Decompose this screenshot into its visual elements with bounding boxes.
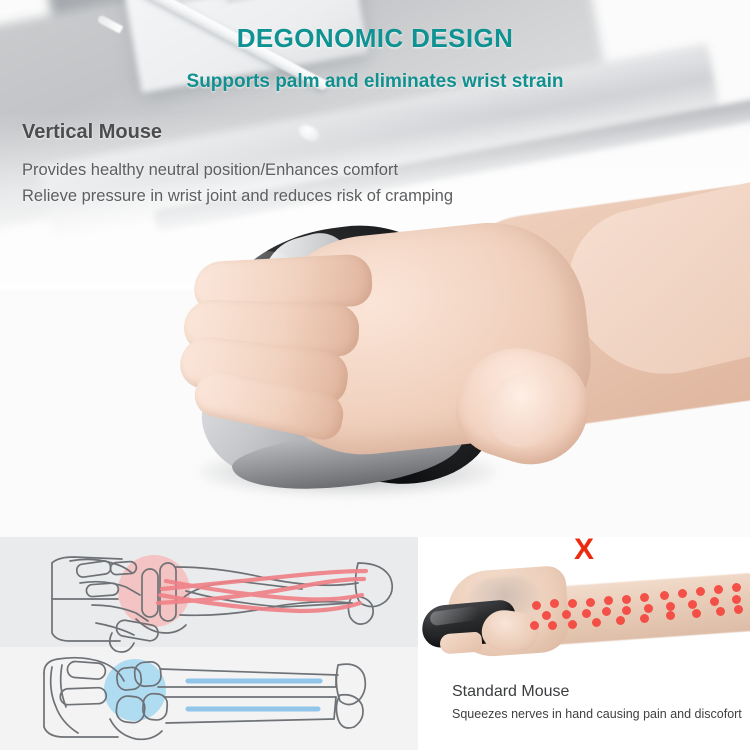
pain-dot: [548, 621, 557, 630]
pain-dot: [660, 591, 669, 600]
pain-dot: [602, 607, 611, 616]
pain-dot: [604, 596, 613, 605]
pain-dot: [714, 585, 723, 594]
pain-dot: [734, 605, 743, 614]
pain-dot: [710, 597, 719, 606]
pain-dot: [678, 589, 687, 598]
pain-dot: [688, 600, 697, 609]
pain-dot: [732, 583, 741, 592]
pain-dot: [716, 607, 725, 616]
pain-dot: [622, 595, 631, 604]
product-marketing-image: DEGONOMIC DESIGN Supports palm and elimi…: [0, 0, 750, 750]
pain-dot: [666, 602, 675, 611]
pain-dot: [732, 595, 741, 604]
standard-fingertip: [439, 632, 482, 655]
standard-mouse-photo: [420, 559, 750, 669]
wrist-anatomy-panel: [0, 537, 418, 750]
pain-dot: [550, 599, 559, 608]
page-title: DEGONOMIC DESIGN: [0, 23, 750, 54]
pain-dot: [562, 610, 571, 619]
feature-line-1: Provides healthy neutral position/Enhanc…: [22, 157, 453, 183]
comparison-section: X: [0, 537, 750, 750]
pain-dot: [696, 587, 705, 596]
standard-mouse-panel: X: [418, 537, 750, 750]
standard-mouse-caption-title: Standard Mouse: [452, 683, 569, 701]
pain-dot: [622, 606, 631, 615]
standard-mouse-caption-sub: Squeezes nerves in hand causing pain and…: [452, 707, 742, 721]
pain-dot: [644, 604, 653, 613]
pain-dot: [616, 616, 625, 625]
vertical-mouse-product-photo: [140, 196, 750, 526]
pain-dot: [640, 614, 649, 623]
pain-dot: [582, 609, 591, 618]
pain-dot: [532, 601, 541, 610]
pain-dot: [666, 611, 675, 620]
hero-section: DEGONOMIC DESIGN Supports palm and elimi…: [0, 0, 750, 537]
pain-dot: [592, 618, 601, 627]
pain-dot: [530, 621, 539, 630]
anatomy-line-drawing: [0, 537, 418, 750]
pain-dot: [640, 593, 649, 602]
pain-dot: [586, 598, 595, 607]
pain-dot: [542, 611, 551, 620]
feature-heading: Vertical Mouse: [22, 121, 162, 144]
page-subtitle: Supports palm and eliminates wrist strai…: [0, 71, 750, 93]
pain-dot: [568, 620, 577, 629]
pain-dot: [692, 609, 701, 618]
pain-dot: [568, 599, 577, 608]
